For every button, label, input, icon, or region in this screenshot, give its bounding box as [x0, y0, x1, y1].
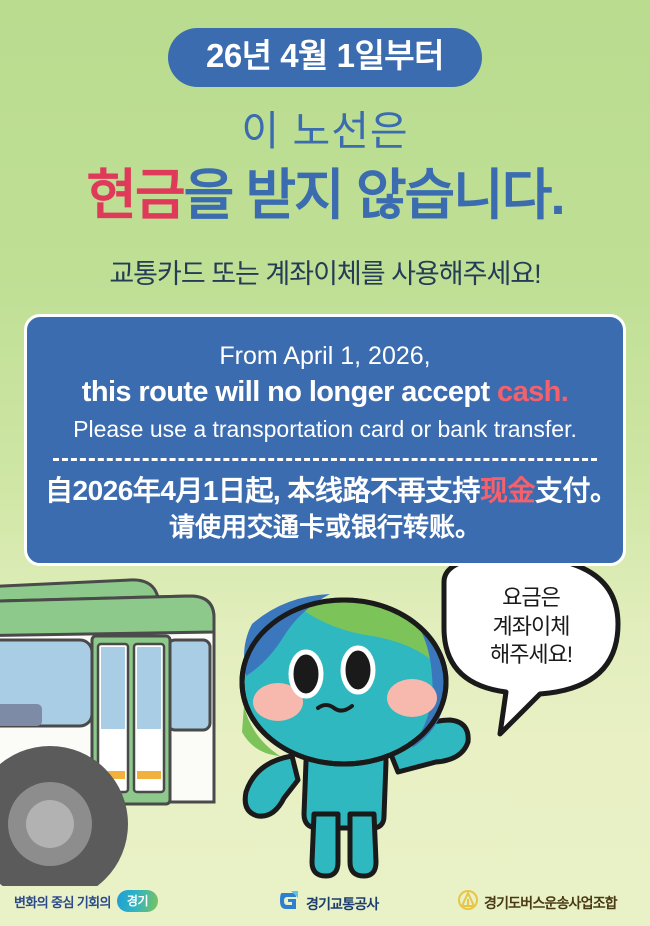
association-emblem-icon [458, 890, 478, 915]
speech-bubble-line-2: 계좌이체 [452, 613, 610, 642]
sub-headline: 이 노선은 [0, 108, 650, 155]
association-wordmark: 경기도버스운송사업조합 [484, 893, 617, 913]
headline-rest: 을 받지 않습니다. [184, 164, 564, 226]
headline-highlight-cash: 현금 [86, 164, 183, 226]
gyeonggi-slogan-text: 변화의 중심 기회의 [14, 892, 111, 911]
illustration-area: 요금은 계좌이체 해주세요! [0, 566, 650, 886]
chinese-line-1-before: 自2026年4月1日起, 本线路不再支持 [45, 475, 480, 506]
bus-illustration [0, 580, 214, 886]
speech-bubble-text: 요금은 계좌이체 해주세요! [452, 584, 610, 670]
gyeonggi-province-logo: 변화의 중심 기회의 경기 [14, 890, 158, 912]
english-line-2-text: this route will no longer accept [82, 376, 497, 408]
gyeonggi-transportation-corporation-logo: 경기교통공사 [278, 890, 378, 917]
mascot-character [242, 594, 468, 876]
chinese-line-1-after: 支付。 [535, 475, 618, 506]
speech-bubble-line-3: 해주세요! [452, 641, 610, 670]
chinese-cash-highlight: 现金 [480, 475, 535, 506]
poster-root: 26년 4월 1일부터 이 노선은 현금을 받지 않습니다. 교통카드 또는 계… [0, 0, 650, 926]
english-line-2: this route will no longer accept cash. [45, 374, 605, 410]
gyeonggi-bus-transport-association-logo: 경기도버스운송사업조합 [458, 890, 617, 915]
main-headline: 현금을 받지 않습니다. [0, 163, 650, 228]
chinese-line-1: 自2026年4月1日起, 本线路不再支持现金支付。 [45, 473, 605, 508]
gyeonggi-wordmark: 경기 [117, 890, 158, 912]
dashed-divider [53, 458, 597, 461]
english-line-1: From April 1, 2026, [45, 341, 605, 372]
header-pill-container: 26년 4월 1일부터 [0, 28, 650, 87]
multilingual-info-box: From April 1, 2026, this route will no l… [24, 314, 626, 566]
english-line-3: Please use a transportation card or bank… [45, 415, 605, 445]
chinese-line-2: 请使用交通卡或银行转账。 [45, 511, 605, 545]
korean-subtitle: 교통카드 또는 계좌이체를 사용해주세요! [0, 258, 650, 290]
gtc-wordmark: 경기교통공사 [306, 894, 378, 914]
footer-logo-bar: 변화의 중심 기회의 경기 경기교통공사 경기도버스운송사업조합 [0, 880, 650, 926]
english-cash-highlight: cash. [497, 376, 568, 408]
speech-bubble-line-1: 요금은 [452, 584, 610, 613]
gtc-mark-icon [278, 890, 300, 917]
effective-date-pill: 26년 4월 1일부터 [168, 28, 482, 87]
